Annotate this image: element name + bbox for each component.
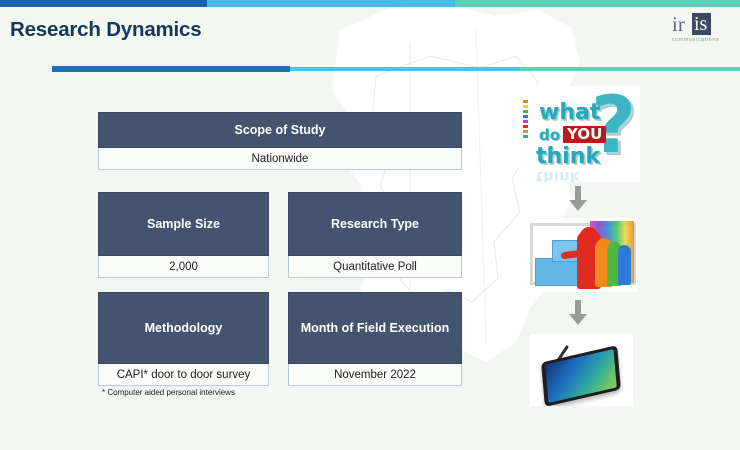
artwork-reflection: think <box>536 168 580 182</box>
rule-segment-dark-blue <box>52 66 290 72</box>
logo-text-ir: ir <box>672 14 685 35</box>
tablet-device <box>541 345 621 406</box>
logo-text-is-box: is <box>692 13 711 35</box>
what-do-you-think-artwork: ? what do YOU think think <box>519 86 640 182</box>
top-accent-bar <box>0 0 740 7</box>
logo-tagline: communications <box>672 37 734 43</box>
figure-red-head <box>580 227 598 245</box>
logo-wordmark: ir is <box>672 14 734 36</box>
image-voting-people <box>525 218 637 292</box>
artwork-word-you: YOU <box>563 126 606 143</box>
voting-people-artwork <box>525 218 637 292</box>
card-value-sample-size: 2,000 <box>98 256 269 278</box>
top-bar-segment-teal <box>455 0 740 7</box>
artwork-word-think: think <box>536 146 600 168</box>
card-value-month-of-field-execution: November 2022 <box>288 364 462 386</box>
card-header-month-of-field-execution: Month of Field Execution <box>288 292 462 364</box>
card-value-scope-of-study: Nationwide <box>98 148 462 170</box>
rule-segment-teal <box>520 67 740 71</box>
tablet-screen <box>545 349 617 403</box>
iris-communications-logo: ir is communications <box>672 14 734 43</box>
card-header-sample-size: Sample Size <box>98 192 269 256</box>
arrow-down-icon-1 <box>566 186 590 212</box>
card-methodology: Methodology CAPI* door to door survey <box>98 292 269 386</box>
card-value-research-type: Quantitative Poll <box>288 256 462 278</box>
artwork-word-what: what <box>539 102 600 124</box>
card-value-methodology: CAPI* door to door survey <box>98 364 269 386</box>
page-title: Research Dynamics <box>10 18 201 42</box>
card-header-methodology: Methodology <box>98 292 269 364</box>
card-sample-size: Sample Size 2,000 <box>98 192 269 278</box>
tablet-artwork <box>530 334 633 406</box>
card-header-scope-of-study: Scope of Study <box>98 112 462 148</box>
image-tablet-stylus <box>530 334 633 406</box>
artwork-word-do: do <box>539 128 560 143</box>
card-scope-of-study: Scope of Study Nationwide <box>98 112 462 170</box>
card-month-of-field-execution: Month of Field Execution November 2022 <box>288 292 462 386</box>
top-bar-segment-dark-blue <box>0 0 207 7</box>
rule-segment-light-blue <box>290 67 520 71</box>
slide-canvas: Research Dynamics ir is communications S… <box>0 0 740 450</box>
arrow-down-icon-2 <box>566 300 590 326</box>
image-what-do-you-think: ? what do YOU think think <box>519 86 640 182</box>
footnote-capi: * Computer aided personal interviews <box>102 388 235 397</box>
decorative-dots <box>523 100 529 156</box>
top-bar-segment-light-blue <box>207 0 455 7</box>
card-header-research-type: Research Type <box>288 192 462 256</box>
title-divider-rule <box>52 66 740 72</box>
card-research-type: Research Type Quantitative Poll <box>288 192 462 278</box>
figure-blue-head <box>620 249 630 259</box>
